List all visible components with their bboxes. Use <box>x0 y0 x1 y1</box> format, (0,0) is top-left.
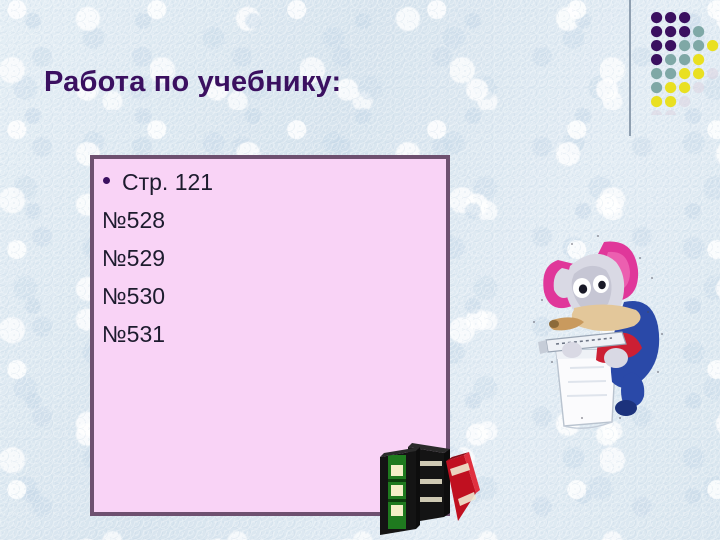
dot-grid-dots <box>651 12 718 115</box>
dot-grid-dot <box>651 26 662 37</box>
dot-grid-dot <box>707 40 718 51</box>
mouse-writing-clipart <box>512 222 702 434</box>
page-title: Работа по учебнику: <box>44 66 341 99</box>
dot-grid-dot <box>651 82 662 93</box>
list-item: №529 <box>102 245 165 272</box>
dot-grid-dot <box>651 12 662 23</box>
dot-grid-dot <box>679 40 690 51</box>
dot-grid-dot <box>665 40 676 51</box>
bullet-point-icon <box>103 177 110 184</box>
list-item: №528 <box>102 207 165 234</box>
dot-grid-dot <box>693 54 704 65</box>
list-item: №530 <box>102 283 165 310</box>
dot-grid-dot <box>651 110 662 115</box>
dot-grid-dot <box>679 12 690 23</box>
dot-grid-dot <box>665 54 676 65</box>
dot-grid-dot <box>693 82 704 93</box>
list-item-label: Стр. 121 <box>122 169 213 196</box>
mouse-head-shape <box>543 242 640 331</box>
slide-canvas: Работа по учебнику: Стр. 121 №528 №529 №… <box>0 0 720 540</box>
dot-grid-dot <box>651 40 662 51</box>
dot-grid-dot <box>679 26 690 37</box>
dot-grid-dot <box>651 54 662 65</box>
dot-grid-dot <box>651 68 662 79</box>
dot-grid-dot <box>679 82 690 93</box>
dot-grid-dot <box>665 96 676 107</box>
list-item-bullet: Стр. 121 <box>103 169 213 196</box>
dot-grid-dot <box>665 12 676 23</box>
dot-grid-dot <box>665 110 676 115</box>
dot-grid-decoration <box>650 11 720 115</box>
dot-grid-dot <box>693 26 704 37</box>
dot-grid-dot <box>651 96 662 107</box>
content-box: Стр. 121 №528 №529 №530 №531 <box>90 155 450 516</box>
dot-grid-dot <box>665 82 676 93</box>
dot-grid-dot <box>679 96 690 107</box>
dot-grid-dot <box>693 40 704 51</box>
dot-grid-dot <box>679 68 690 79</box>
dot-grid-dot <box>665 26 676 37</box>
list-item: №531 <box>102 321 165 348</box>
dot-grid-dot <box>665 68 676 79</box>
dot-grid-dot <box>693 68 704 79</box>
vertical-divider <box>629 0 631 136</box>
books-clipart <box>372 435 482 535</box>
dot-grid-dot <box>707 68 718 79</box>
dot-grid-dot <box>679 54 690 65</box>
